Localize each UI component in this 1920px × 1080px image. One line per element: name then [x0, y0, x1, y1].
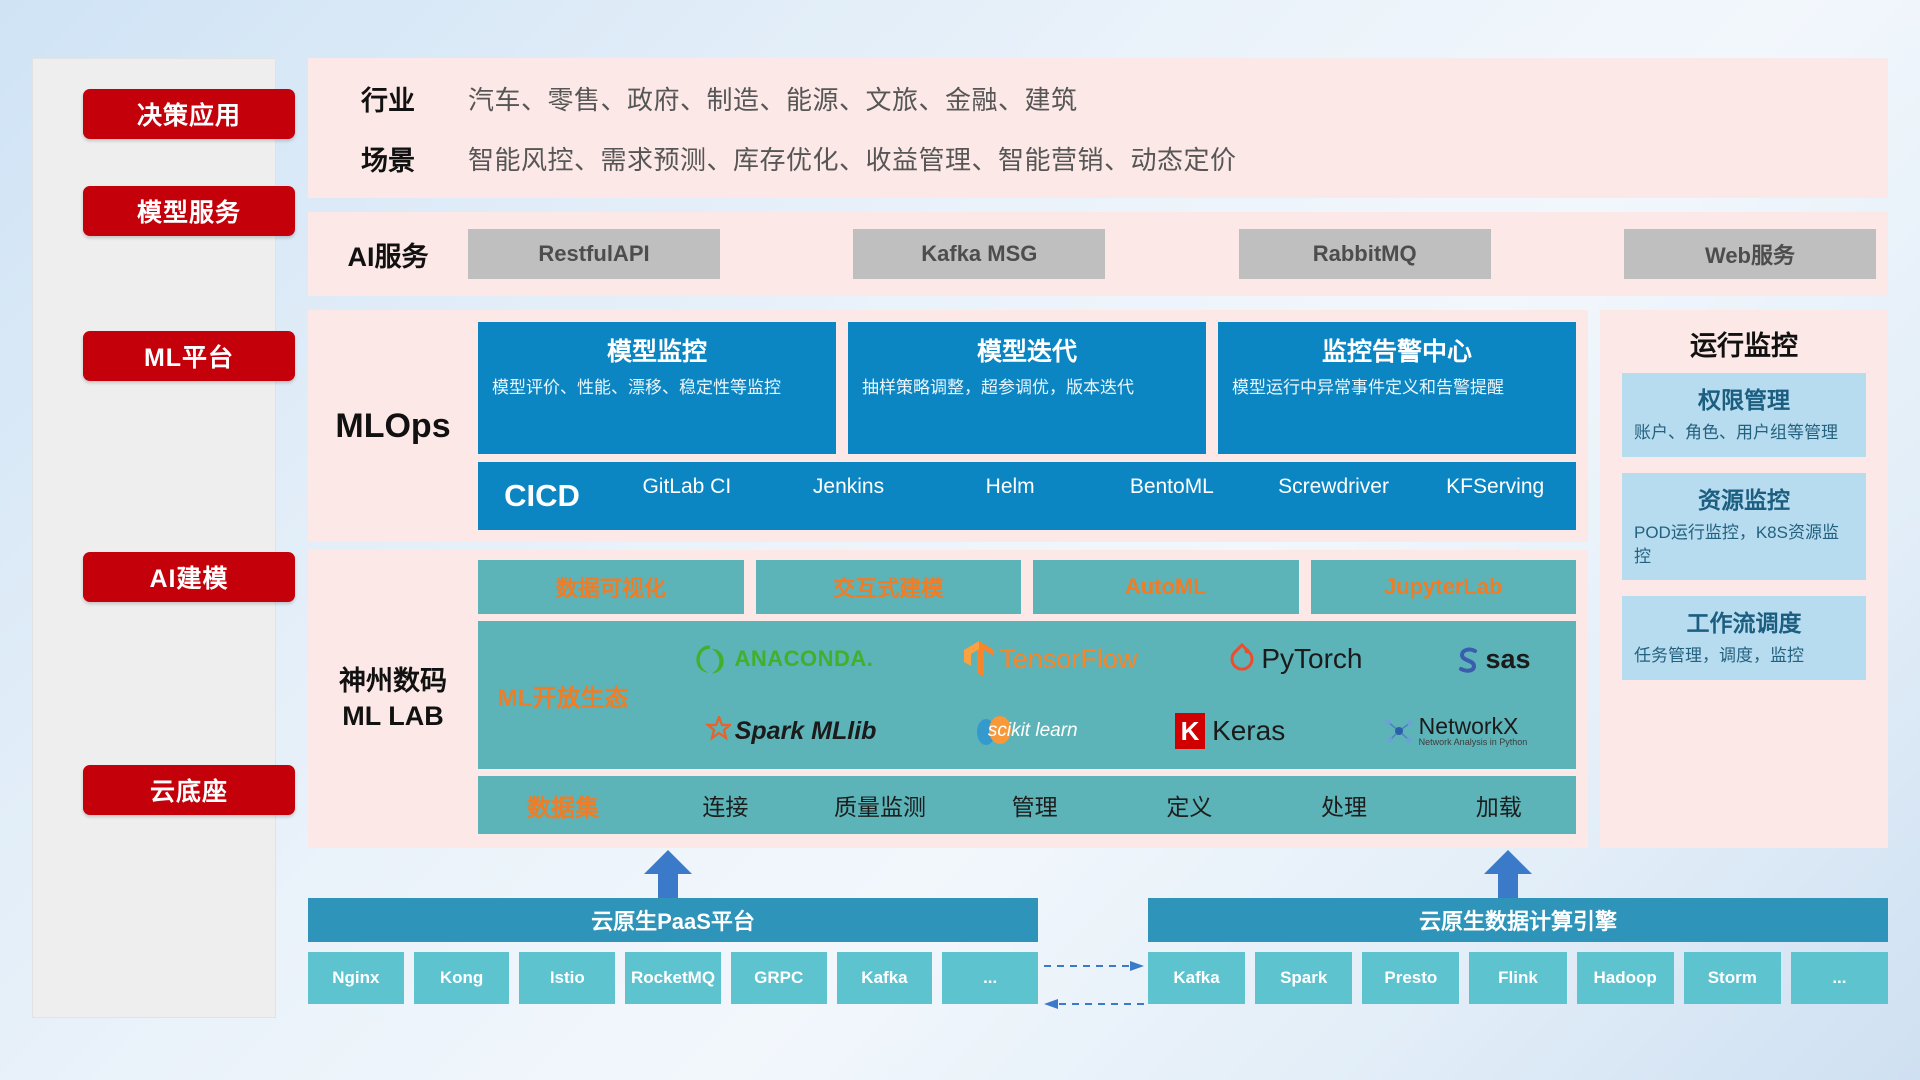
left-layer-rail: 决策应用 模型服务 ML平台 AI建模 云底座 [32, 58, 276, 1018]
scenario-key: 场景 [308, 139, 468, 178]
mlops-card-desc: 模型运行中异常事件定义和告警提醒 [1232, 376, 1562, 401]
spark-icon [697, 716, 731, 746]
cloud-chip[interactable]: Nginx [308, 952, 404, 1004]
layer-tag-label: ML平台 [144, 338, 234, 374]
ai-service-chip[interactable]: RestfulAPI [468, 229, 720, 279]
ai-service-chip-list: RestfulAPI Kafka MSG RabbitMQ Web服务 [468, 229, 1888, 279]
cloud-chip[interactable]: Spark [1255, 952, 1352, 1004]
networkx-logo: NetworkX Network Analysis in Python [1383, 715, 1528, 747]
ai-service-chip[interactable]: Web服务 [1624, 229, 1876, 279]
spark-mllib-logo: Spark MLlib [697, 716, 877, 746]
industry-value: 汽车、零售、政府、制造、能源、文旅、金融、建筑 [468, 80, 1078, 117]
anaconda-icon [693, 642, 727, 676]
dataset-bar: 数据集 连接 质量监测 管理 定义 处理 加载 [478, 776, 1576, 834]
run-monitor-card-title: 权限管理 [1634, 381, 1854, 415]
cloud-paas-bar[interactable]: 云原生PaaS平台 [308, 898, 1038, 942]
cloud-paas-chip-list: Nginx Kong Istio RocketMQ GRPC Kafka ... [308, 952, 1038, 1004]
dataset-title: 数据集 [478, 788, 648, 823]
ai-service-chip[interactable]: Kafka MSG [853, 229, 1105, 279]
mlops-content: 模型监控 模型评价、性能、漂移、稳定性等监控 模型迭代 抽样策略调整，超参调优，… [478, 310, 1588, 542]
cloud-chip[interactable]: Kafka [837, 952, 933, 1004]
ml-lab-label-line1: 神州数码 [339, 666, 447, 696]
cloud-chip[interactable]: ... [1791, 952, 1888, 1004]
cicd-bar: CICD GitLab CI Jenkins Helm BentoML Scre… [478, 462, 1576, 530]
dataset-item[interactable]: 连接 [648, 788, 803, 822]
cicd-item[interactable]: Helm [929, 473, 1091, 519]
keras-wordmark: Keras [1212, 715, 1285, 747]
cloud-engine-bar[interactable]: 云原生数据计算引擎 [1148, 898, 1888, 942]
mlops-card-model-monitor[interactable]: 模型监控 模型评价、性能、漂移、稳定性等监控 [478, 322, 836, 454]
cicd-item[interactable]: Screwdriver [1253, 473, 1415, 519]
tensorflow-logo: TensorFlow [964, 641, 1137, 677]
ml-ecosystem-logo-row: ANACONDA. TensorFlow [648, 624, 1576, 694]
ml-lab-label: 神州数码 ML LAB [308, 550, 478, 848]
cicd-item[interactable]: Jenkins [768, 473, 930, 519]
cloud-chip[interactable]: RocketMQ [625, 952, 721, 1004]
ml-ecosystem-logo-grid: ANACONDA. TensorFlow [648, 624, 1576, 766]
mlops-card-model-iteration[interactable]: 模型迭代 抽样策略调整，超参调优，版本迭代 [848, 322, 1206, 454]
run-monitor-card-title: 资源监控 [1634, 481, 1854, 515]
pytorch-icon [1228, 643, 1256, 675]
mlops-card-desc: 模型评价、性能、漂移、稳定性等监控 [492, 376, 822, 401]
sas-wordmark: sas [1485, 644, 1530, 675]
run-monitor-card-workflow[interactable]: 工作流调度 任务管理，调度，监控 [1622, 596, 1866, 680]
cicd-item-list: GitLab CI Jenkins Helm BentoML Screwdriv… [606, 473, 1576, 519]
dataset-item[interactable]: 加载 [1421, 788, 1576, 822]
cloud-chip[interactable]: GRPC [731, 952, 827, 1004]
tensorflow-icon [964, 641, 994, 677]
cloud-chip[interactable]: Kafka [1148, 952, 1245, 1004]
run-monitor-panel: 运行监控 权限管理 账户、角色、用户组等管理 资源监控 POD运行监控，K8S资… [1600, 310, 1888, 848]
ml-lab-tool[interactable]: 交互式建模 [756, 560, 1022, 614]
ai-service-band: AI服务 RestfulAPI Kafka MSG RabbitMQ Web服务 [308, 212, 1888, 296]
cicd-item[interactable]: BentoML [1091, 473, 1253, 519]
pytorch-wordmark: PyTorch [1261, 643, 1362, 675]
ml-ecosystem-logo-row: Spark MLlib scikit learn K [648, 696, 1576, 766]
ml-lab-band: 神州数码 ML LAB 数据可视化 交互式建模 AutoML JupyterLa… [308, 550, 1588, 848]
networkx-wordmark: NetworkX [1419, 715, 1528, 738]
ai-service-chip[interactable]: RabbitMQ [1239, 229, 1491, 279]
mlops-card-title: 模型监控 [492, 332, 822, 368]
ml-lab-tool[interactable]: AutoML [1033, 560, 1299, 614]
cicd-title: CICD [478, 478, 606, 514]
mlops-label: MLOps [308, 310, 478, 542]
mlops-card-title: 模型迭代 [862, 332, 1192, 368]
cloud-chip[interactable]: ... [942, 952, 1038, 1004]
keras-logo: K Keras [1175, 713, 1285, 749]
scikit-learn-wordmark: scikit learn [988, 720, 1078, 742]
run-monitor-card-desc: 任务管理，调度，监控 [1634, 644, 1854, 668]
layer-tag-label: 云底座 [150, 772, 228, 808]
industry-row: 行业 汽车、零售、政府、制造、能源、文旅、金融、建筑 [308, 68, 1888, 128]
tensorflow-wordmark: TensorFlow [999, 644, 1137, 675]
mlops-card-list: 模型监控 模型评价、性能、漂移、稳定性等监控 模型迭代 抽样策略调整，超参调优，… [478, 322, 1576, 454]
networkx-icon [1383, 716, 1415, 746]
industry-scenario-band: 行业 汽车、零售、政府、制造、能源、文旅、金融、建筑 场景 智能风控、需求预测、… [308, 58, 1888, 198]
ml-lab-label-line2: ML LAB [342, 701, 444, 731]
ml-lab-tool[interactable]: JupyterLab [1311, 560, 1577, 614]
cloud-chip[interactable]: Istio [519, 952, 615, 1004]
layer-tag-ai-modeling[interactable]: AI建模 [83, 552, 295, 602]
cloud-chip[interactable]: Kong [414, 952, 510, 1004]
cloud-engine-chip-list: Kafka Spark Presto Flink Hadoop Storm ..… [1148, 952, 1888, 1004]
sas-icon [1453, 644, 1483, 674]
mlops-card-desc: 抽样策略调整，超参调优，版本迭代 [862, 376, 1192, 401]
layer-tag-ml-platform[interactable]: ML平台 [83, 331, 295, 381]
ml-lab-tool-list: 数据可视化 交互式建模 AutoML JupyterLab [478, 560, 1576, 614]
scenario-value: 智能风控、需求预测、库存优化、收益管理、智能营销、动态定价 [468, 140, 1237, 177]
cicd-item[interactable]: GitLab CI [606, 473, 768, 519]
cicd-item[interactable]: KFServing [1414, 473, 1576, 519]
arrow-up-engine-icon [1480, 850, 1536, 898]
run-monitor-title: 运行监控 [1600, 310, 1888, 373]
run-monitor-card-permission[interactable]: 权限管理 账户、角色、用户组等管理 [1622, 373, 1866, 457]
architecture-diagram: 决策应用 模型服务 ML平台 AI建模 云底座 行业 汽车、零售、政府、制造、能… [0, 0, 1920, 1080]
layer-tag-label: 模型服务 [137, 193, 241, 229]
scikit-learn-logo: scikit learn [974, 713, 1078, 749]
run-monitor-card-resource[interactable]: 资源监控 POD运行监控，K8S资源监控 [1622, 473, 1866, 581]
dataset-item[interactable]: 定义 [1112, 788, 1267, 822]
dataset-item-list: 连接 质量监测 管理 定义 处理 加载 [648, 788, 1576, 822]
cloud-chip[interactable]: Storm [1684, 952, 1781, 1004]
pytorch-logo: PyTorch [1228, 643, 1362, 675]
run-monitor-card-title: 工作流调度 [1634, 604, 1854, 638]
sas-logo: sas [1453, 644, 1530, 675]
layer-tag-cloud-base[interactable]: 云底座 [83, 765, 295, 815]
ml-lab-content: 数据可视化 交互式建模 AutoML JupyterLab ML开放生态 [478, 550, 1588, 848]
keras-icon: K [1175, 713, 1205, 749]
dataset-item[interactable]: 质量监测 [803, 788, 958, 822]
run-monitor-card-desc: 账户、角色、用户组等管理 [1634, 421, 1854, 445]
mlops-card-title: 监控告警中心 [1232, 332, 1562, 368]
ai-service-label: AI服务 [308, 235, 468, 274]
run-monitor-card-desc: POD运行监控，K8S资源监控 [1634, 521, 1854, 569]
bidirectional-dashed-connector-icon [1040, 956, 1148, 1016]
ml-ecosystem-panel: ML开放生态 ANACONDA. [478, 621, 1576, 769]
dataset-item[interactable]: 管理 [957, 788, 1112, 822]
dataset-item[interactable]: 处理 [1267, 788, 1422, 822]
mlops-band: MLOps 模型监控 模型评价、性能、漂移、稳定性等监控 模型迭代 抽样策略调整… [308, 310, 1588, 542]
arrow-up-paas-icon [640, 850, 696, 898]
layer-tag-label: AI建模 [149, 559, 228, 595]
ml-lab-tool[interactable]: 数据可视化 [478, 560, 744, 614]
networkx-tagline: Network Analysis in Python [1419, 738, 1528, 747]
layer-tag-decision[interactable]: 决策应用 [83, 89, 295, 139]
mlops-card-alert-center[interactable]: 监控告警中心 模型运行中异常事件定义和告警提醒 [1218, 322, 1576, 454]
layer-tag-model-service[interactable]: 模型服务 [83, 186, 295, 236]
cloud-chip[interactable]: Hadoop [1577, 952, 1674, 1004]
spark-mllib-wordmark: Spark MLlib [735, 717, 877, 746]
layer-tag-label: 决策应用 [137, 96, 241, 132]
scenario-row: 场景 智能风控、需求预测、库存优化、收益管理、智能营销、动态定价 [308, 128, 1888, 188]
cloud-engine-title: 云原生数据计算引擎 [1419, 904, 1617, 936]
cloud-chip[interactable]: Flink [1469, 952, 1566, 1004]
industry-key: 行业 [308, 79, 468, 118]
anaconda-wordmark: ANACONDA. [734, 646, 873, 672]
cloud-chip[interactable]: Presto [1362, 952, 1459, 1004]
cloud-paas-title: 云原生PaaS平台 [591, 904, 755, 936]
anaconda-logo: ANACONDA. [693, 642, 873, 676]
ml-ecosystem-label: ML开放生态 [478, 678, 648, 713]
